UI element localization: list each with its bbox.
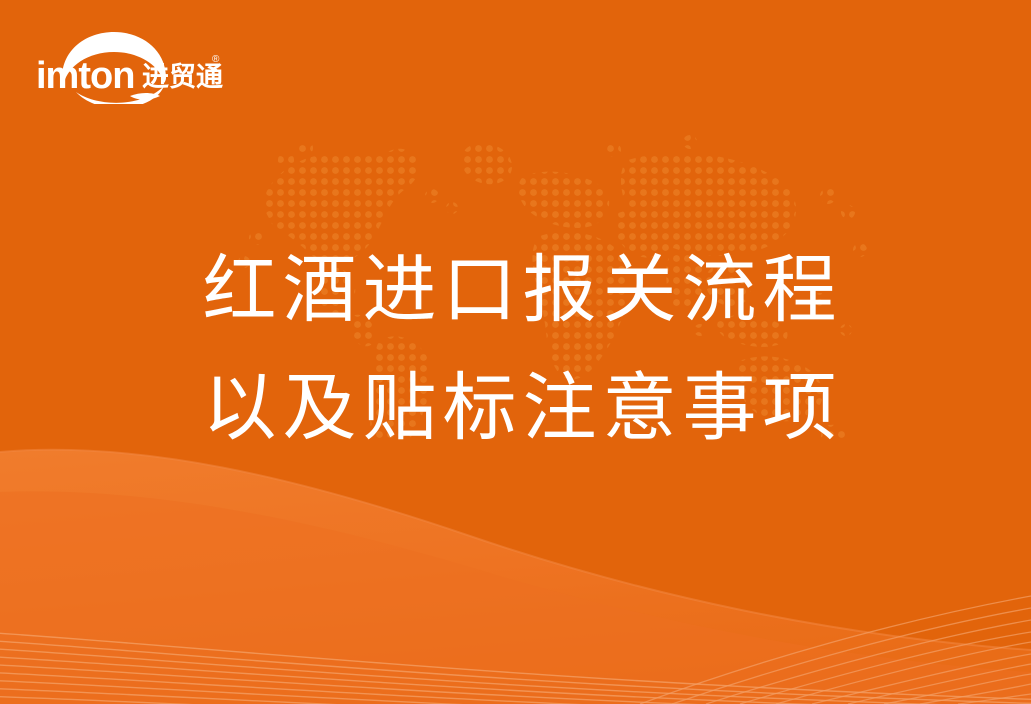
logo-chinese-name: 进贸通 [142,62,223,93]
presentation-slide: imton 进贸通 ® 红酒进口报关流程 以及贴标注意事项 [0,0,1031,704]
logo-artwork: imton 进贸通 ® [34,26,224,104]
logo-wordmark: imton [36,55,134,97]
slide-title: 红酒进口报关流程 以及贴标注意事项 [0,232,1031,468]
title-line-2: 以及贴标注意事项 [14,350,1031,468]
trademark-icon: ® [212,54,220,65]
company-logo: imton 进贸通 ® [34,26,224,104]
title-line-1: 红酒进口报关流程 [14,232,1031,350]
